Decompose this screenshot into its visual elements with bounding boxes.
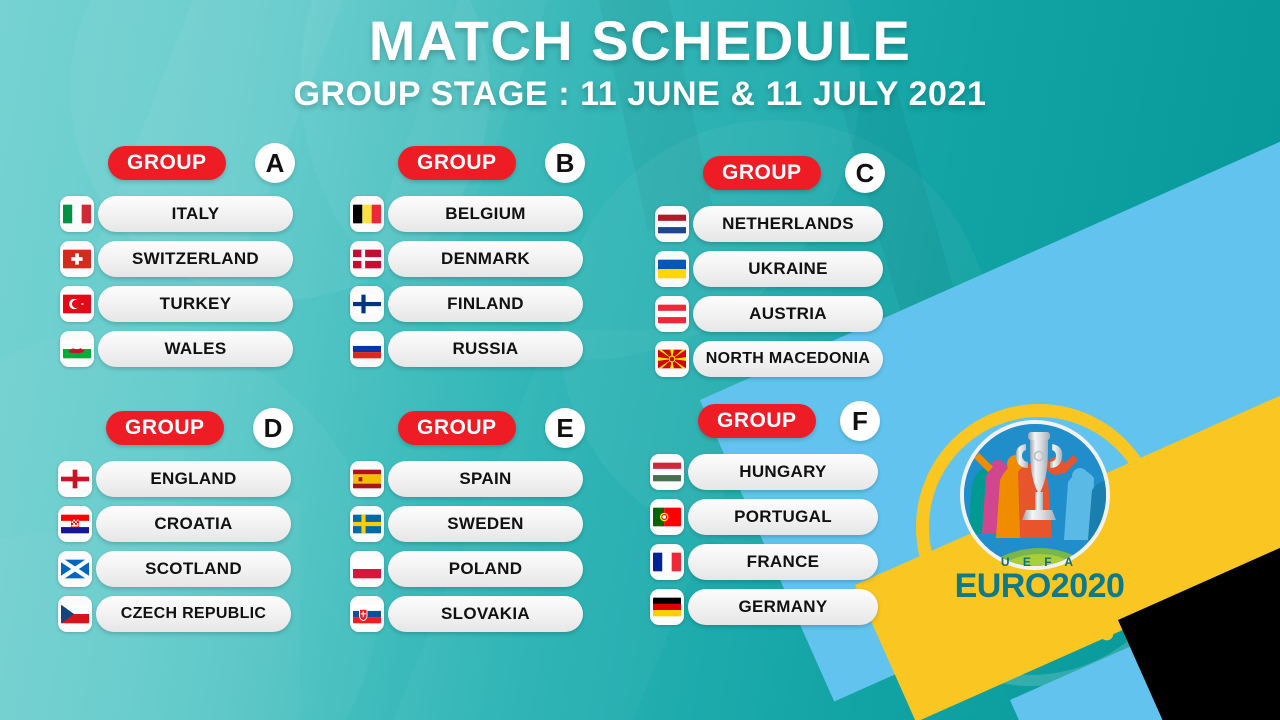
- team-name: FINLAND: [388, 286, 583, 322]
- team-row[interactable]: RUSSIA: [350, 329, 583, 369]
- group-block-e: GROUP E SPAIN SWEDEN POLAND: [350, 411, 583, 639]
- denmark-flag: [350, 241, 384, 277]
- group-badge-d: GROUP: [106, 411, 224, 445]
- turkey-flag: [60, 286, 94, 322]
- team-row[interactable]: NETHERLANDS: [655, 204, 883, 244]
- team-name: CROATIA: [96, 506, 291, 542]
- team-name: RUSSIA: [388, 331, 583, 367]
- team-name: POLAND: [388, 551, 583, 587]
- team-row[interactable]: SLOVAKIA: [350, 594, 583, 634]
- group-header-e: GROUP E: [350, 411, 583, 449]
- group-letter-d: D: [253, 408, 293, 448]
- germany-flag: [650, 589, 684, 625]
- team-name: ENGLAND: [96, 461, 291, 497]
- group-header-b: GROUP B: [350, 146, 583, 184]
- team-name: AUSTRIA: [693, 296, 883, 332]
- team-row[interactable]: WALES: [60, 329, 293, 369]
- group-block-a: GROUP A ITALY SWITZERLAND TURKEY: [60, 146, 293, 374]
- group-badge-c: GROUP: [703, 156, 821, 190]
- group-badge-b: GROUP: [398, 146, 516, 180]
- wales-flag: [60, 331, 94, 367]
- italy-flag: [60, 196, 94, 232]
- team-name: BELGIUM: [388, 196, 583, 232]
- team-name: SLOVAKIA: [388, 596, 583, 632]
- group-letter-a: A: [255, 143, 295, 183]
- team-row[interactable]: PORTUGAL: [650, 497, 878, 537]
- hungary-flag: [650, 454, 684, 490]
- team-row[interactable]: CZECH REPUBLIC: [58, 594, 291, 634]
- portugal-flag: [650, 499, 684, 535]
- scotland-flag: [58, 551, 92, 587]
- team-list-f: HUNGARY PORTUGAL FRANCE GERMANY: [650, 452, 878, 627]
- czech-republic-flag: [58, 596, 92, 632]
- belgium-flag: [350, 196, 384, 232]
- group-header-c: GROUP C: [655, 156, 883, 194]
- team-row[interactable]: FRANCE: [650, 542, 878, 582]
- poster-canvas: MATCH SCHEDULE GROUP STAGE : 11 JUNE & 1…: [0, 0, 1280, 720]
- croatia-flag: [58, 506, 92, 542]
- team-list-d: ENGLAND CROATIA SCOTLAND CZECH REPUBLIC: [58, 459, 291, 634]
- team-name: ITALY: [98, 196, 293, 232]
- group-block-f: GROUP F HUNGARY PORTUGAL FRANCE: [650, 404, 878, 632]
- spain-flag: [350, 461, 384, 497]
- team-name: DENMARK: [388, 241, 583, 277]
- team-list-a: ITALY SWITZERLAND TURKEY WALES: [60, 194, 293, 369]
- uefa-euro-2020-logo: U E F A EURO2020: [960, 420, 1120, 620]
- group-header-a: GROUP A: [60, 146, 293, 184]
- team-list-e: SPAIN SWEDEN POLAND SLOVAKIA: [350, 459, 583, 634]
- team-row[interactable]: BELGIUM: [350, 194, 583, 234]
- switzerland-flag: [60, 241, 94, 277]
- team-name: HUNGARY: [688, 454, 878, 490]
- team-name: WALES: [98, 331, 293, 367]
- sweden-flag: [350, 506, 384, 542]
- team-row[interactable]: TURKEY: [60, 284, 293, 324]
- team-name: UKRAINE: [693, 251, 883, 287]
- team-name: SWITZERLAND: [98, 241, 293, 277]
- group-badge-e: GROUP: [398, 411, 516, 445]
- team-name: CZECH REPUBLIC: [96, 596, 291, 632]
- team-row[interactable]: UKRAINE: [655, 249, 883, 289]
- team-row[interactable]: DENMARK: [350, 239, 583, 279]
- team-list-b: BELGIUM DENMARK FINLAND RUSSIA: [350, 194, 583, 369]
- team-name: NORTH MACEDONIA: [693, 341, 883, 377]
- team-row[interactable]: FINLAND: [350, 284, 583, 324]
- team-name: SCOTLAND: [96, 551, 291, 587]
- logo-wordmark: U E F A EURO2020: [932, 555, 1147, 606]
- team-row[interactable]: CROATIA: [58, 504, 291, 544]
- poland-flag: [350, 551, 384, 587]
- poster-header: MATCH SCHEDULE GROUP STAGE : 11 JUNE & 1…: [0, 12, 1280, 114]
- group-block-d: GROUP D ENGLAND CROATIA SCOTLAND: [58, 411, 291, 639]
- team-row[interactable]: SWEDEN: [350, 504, 583, 544]
- group-letter-b: B: [545, 143, 585, 183]
- group-block-c: GROUP C NETHERLANDS UKRAINE AUSTRIA: [655, 156, 883, 384]
- team-row[interactable]: HUNGARY: [650, 452, 878, 492]
- team-row[interactable]: SPAIN: [350, 459, 583, 499]
- group-badge-a: GROUP: [108, 146, 226, 180]
- team-name: SPAIN: [388, 461, 583, 497]
- group-letter-f: F: [840, 401, 880, 441]
- team-row[interactable]: ENGLAND: [58, 459, 291, 499]
- ukraine-flag: [655, 251, 689, 287]
- group-letter-c: C: [845, 153, 885, 193]
- netherlands-flag: [655, 206, 689, 242]
- team-name: SWEDEN: [388, 506, 583, 542]
- russia-flag: [350, 331, 384, 367]
- group-header-f: GROUP F: [650, 404, 878, 442]
- trophy-icon: [960, 420, 1110, 570]
- england-flag: [58, 461, 92, 497]
- page-subtitle: GROUP STAGE : 11 JUNE & 11 JULY 2021: [0, 75, 1280, 114]
- group-badge-f: GROUP: [698, 404, 816, 438]
- team-name: GERMANY: [688, 589, 878, 625]
- finland-flag: [350, 286, 384, 322]
- austria-flag: [655, 296, 689, 332]
- team-name: PORTUGAL: [688, 499, 878, 535]
- team-list-c: NETHERLANDS UKRAINE AUSTRIA NORTH MACEDO…: [655, 204, 883, 379]
- team-row[interactable]: GERMANY: [650, 587, 878, 627]
- team-name: NETHERLANDS: [693, 206, 883, 242]
- team-name: TURKEY: [98, 286, 293, 322]
- team-row[interactable]: SWITZERLAND: [60, 239, 293, 279]
- group-block-b: GROUP B BELGIUM DENMARK FINLAND: [350, 146, 583, 374]
- group-header-d: GROUP D: [58, 411, 291, 449]
- team-row[interactable]: SCOTLAND: [58, 549, 291, 589]
- team-name: FRANCE: [688, 544, 878, 580]
- north-macedonia-flag: [655, 341, 689, 377]
- team-row[interactable]: ITALY: [60, 194, 293, 234]
- page-title: MATCH SCHEDULE: [0, 12, 1280, 71]
- euro2020-label: EURO2020: [932, 567, 1147, 606]
- team-row[interactable]: POLAND: [350, 549, 583, 589]
- team-row[interactable]: NORTH MACEDONIA: [655, 339, 883, 379]
- france-flag: [650, 544, 684, 580]
- team-row[interactable]: AUSTRIA: [655, 294, 883, 334]
- slovakia-flag: [350, 596, 384, 632]
- group-letter-e: E: [545, 408, 585, 448]
